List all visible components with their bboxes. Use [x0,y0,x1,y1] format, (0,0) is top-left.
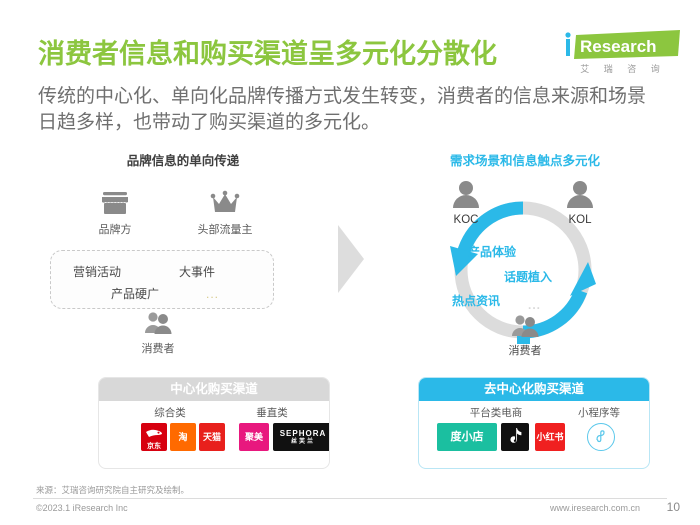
right-consumer-label: 消费者 [490,342,560,358]
douyin-logo[interactable] [501,423,529,451]
slide-header: 消费者信息和购买渠道呈多元化分散化 Research 艾 瑞 咨 询 传统的中心… [0,0,700,145]
actor-brand: 品牌方 [70,188,160,237]
xiaohongshu-logo-text: 小红书 [536,433,563,442]
slide-root: 消费者信息和购买渠道呈多元化分散化 Research 艾 瑞 咨 询 传统的中心… [0,0,700,525]
message-tag-0: 营销活动 [73,263,121,280]
left-consumer: 消费者 [83,310,233,356]
actor-koc-label: KOC [438,214,494,226]
iresearch-logo-mark: Research [562,30,682,62]
crown-icon [210,188,240,218]
decentralized-channel-categories: 平台类电商 小程序等 [419,405,649,423]
duxiaodian-logo-text: 度小店 [451,432,484,443]
jd-mascot-icon: 京东 [142,424,166,450]
iresearch-logo-cn: 艾 瑞 咨 询 [568,62,678,75]
centralized-channel-logos: 京东 淘 天猫 聚美 SEPHORA 丝芙兰 [99,423,329,459]
actor-brand-label: 品牌方 [70,221,160,237]
actor-kol: KOL [552,180,608,226]
svg-text:Research: Research [580,37,657,56]
xiaohongshu-logo[interactable]: 小红书 [535,423,565,451]
jd-logo[interactable]: 京东 [141,423,167,451]
people-icon [142,310,174,334]
touchpoint-0: 产品体验 [468,243,516,260]
jumei-logo-text: 聚美 [245,433,263,442]
miniprogram-logo[interactable] [587,423,615,451]
tmall-logo-text: 天猫 [203,433,221,442]
sephora-logo[interactable]: SEPHORA 丝芙兰 [273,423,330,451]
sephora-logo-text: SEPHORA [280,430,327,438]
decentralized-channel-box: 去中心化购买渠道 平台类电商 小程序等 度小店 小红书 [418,377,650,469]
taobao-logo-text: 淘 [178,433,187,442]
person-icon [449,180,483,208]
copyright-text: ©2023.1 iResearch Inc [36,503,128,513]
svg-text:京东: 京东 [147,441,161,450]
person-icon [563,180,597,208]
message-tag-2: 产品硬广 [111,285,159,302]
centralized-channel-header: 中心化购买渠道 [99,378,329,401]
left-consumer-label: 消费者 [83,340,233,356]
arrow-right-icon [338,225,364,293]
left-actors-row: 品牌方 头部流量主 [50,188,318,244]
wechat-miniprogram-icon [593,429,609,445]
centralized-channel-categories: 综合类 垂直类 [99,405,329,423]
page-subtitle: 传统的中心化、单向化品牌传播方式发生转变，消费者的信息来源和场景日趋多样，也带动… [38,84,658,136]
website-url: www.iresearch.com.cn [550,503,640,513]
footer-divider [33,498,667,499]
left-panel-title: 品牌信息的单向传递 [28,150,338,169]
left-diagram-panel: 品牌信息的单向传递 品牌方 头部流量主 [28,150,338,470]
category-miniprogram: 小程序等 [559,405,639,420]
tmall-logo[interactable]: 天猫 [199,423,225,451]
category-vertical: 垂直类 [227,405,317,420]
actor-koc: KOC [438,180,494,226]
store-icon [100,188,130,218]
right-panel-title: 需求场景和信息触点多元化 [370,150,680,169]
source-note: 来源：艾瑞咨询研究院自主研究及绘制。 [36,484,189,496]
jumei-logo[interactable]: 聚美 [239,423,269,451]
touchpoint-circle-diagram: KOC KOL 产品体验 话题植入 热点资讯 ... [400,180,650,365]
decentralized-channel-logos: 度小店 小红书 [419,423,649,459]
message-tag-1: 大事件 [179,263,215,280]
right-diagram-panel: 需求场景和信息触点多元化 KOC [370,150,680,470]
right-consumer: 消费者 [490,313,560,358]
page-title: 消费者信息和购买渠道呈多元化分散化 [38,32,497,71]
touchpoint-ellipsis: ... [528,298,541,312]
message-tag-ellipsis: ... [206,287,219,301]
actor-top-traffic-label: 头部流量主 [180,221,270,237]
category-platform-ecommerce: 平台类电商 [441,405,551,420]
sephora-logo-cn: 丝芙兰 [291,439,315,445]
duxiaodian-logo[interactable]: 度小店 [437,423,497,451]
touchpoint-2: 热点资讯 [452,292,500,309]
centralized-channel-box: 中心化购买渠道 综合类 垂直类 京东 淘 天猫 [98,377,330,469]
decentralized-channel-header: 去中心化购买渠道 [419,378,649,401]
actor-kol-label: KOL [552,214,608,226]
page-number: 10 [667,500,680,514]
taobao-logo[interactable]: 淘 [170,423,196,451]
people-icon [509,313,541,337]
touchpoint-1: 话题植入 [504,268,552,285]
category-comprehensive: 综合类 [125,405,215,420]
brand-message-box: 营销活动 大事件 产品硬广 ... [50,250,274,309]
iresearch-logo: Research 艾 瑞 咨 询 [562,30,682,78]
douyin-note-icon [506,427,524,447]
actor-top-traffic: 头部流量主 [180,188,270,237]
